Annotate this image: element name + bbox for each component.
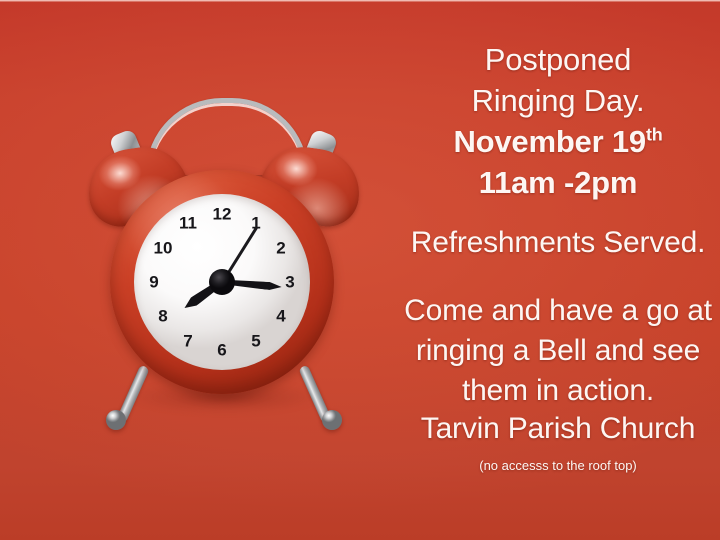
refreshments-line: Refreshments Served. — [396, 226, 720, 260]
clock-numeral: 9 — [142, 274, 166, 291]
alarm-clock-photo: 12 1 2 3 4 5 6 7 8 9 10 11 — [84, 92, 360, 442]
announcement-text: Postponed Ringing Day. November 19th 11a… — [396, 0, 720, 540]
clock-case: 12 1 2 3 4 5 6 7 8 9 10 11 — [110, 170, 334, 394]
access-note: (no accesss to the roof top) — [396, 458, 720, 473]
clock-numeral: 12 — [210, 206, 234, 223]
clock-numeral: 2 — [269, 240, 293, 257]
poster: 12 1 2 3 4 5 6 7 8 9 10 11 Postponed Rin… — [0, 0, 720, 540]
event-date-ordinal: th — [646, 125, 663, 145]
clock-numeral: 8 — [151, 308, 175, 325]
venue-name: Tarvin Parish Church — [396, 412, 720, 446]
clock-foot-right — [322, 410, 342, 430]
clock-hand-cap — [209, 269, 235, 295]
event-date: November 19th — [396, 124, 720, 160]
event-time: 11am -2pm — [396, 165, 720, 201]
clock-numeral: 3 — [278, 274, 302, 291]
clock-numeral: 5 — [244, 333, 268, 350]
clock-foot-left — [106, 410, 126, 430]
headline-line-2: Ringing Day. — [396, 83, 720, 119]
clock-numeral: 10 — [151, 240, 175, 257]
headline-line-1: Postponed — [396, 42, 720, 78]
clock-numeral: 6 — [210, 342, 234, 359]
event-date-text: November 19 — [453, 124, 646, 159]
clock-numeral: 11 — [176, 215, 200, 232]
clock-face: 12 1 2 3 4 5 6 7 8 9 10 11 — [134, 194, 310, 370]
body-line-2: ringing a Bell and see — [396, 334, 720, 368]
body-line-3: them in action. — [396, 374, 720, 408]
clock-numeral: 7 — [176, 333, 200, 350]
body-line-1: Come and have a go at — [396, 294, 720, 328]
clock-numeral: 4 — [269, 308, 293, 325]
